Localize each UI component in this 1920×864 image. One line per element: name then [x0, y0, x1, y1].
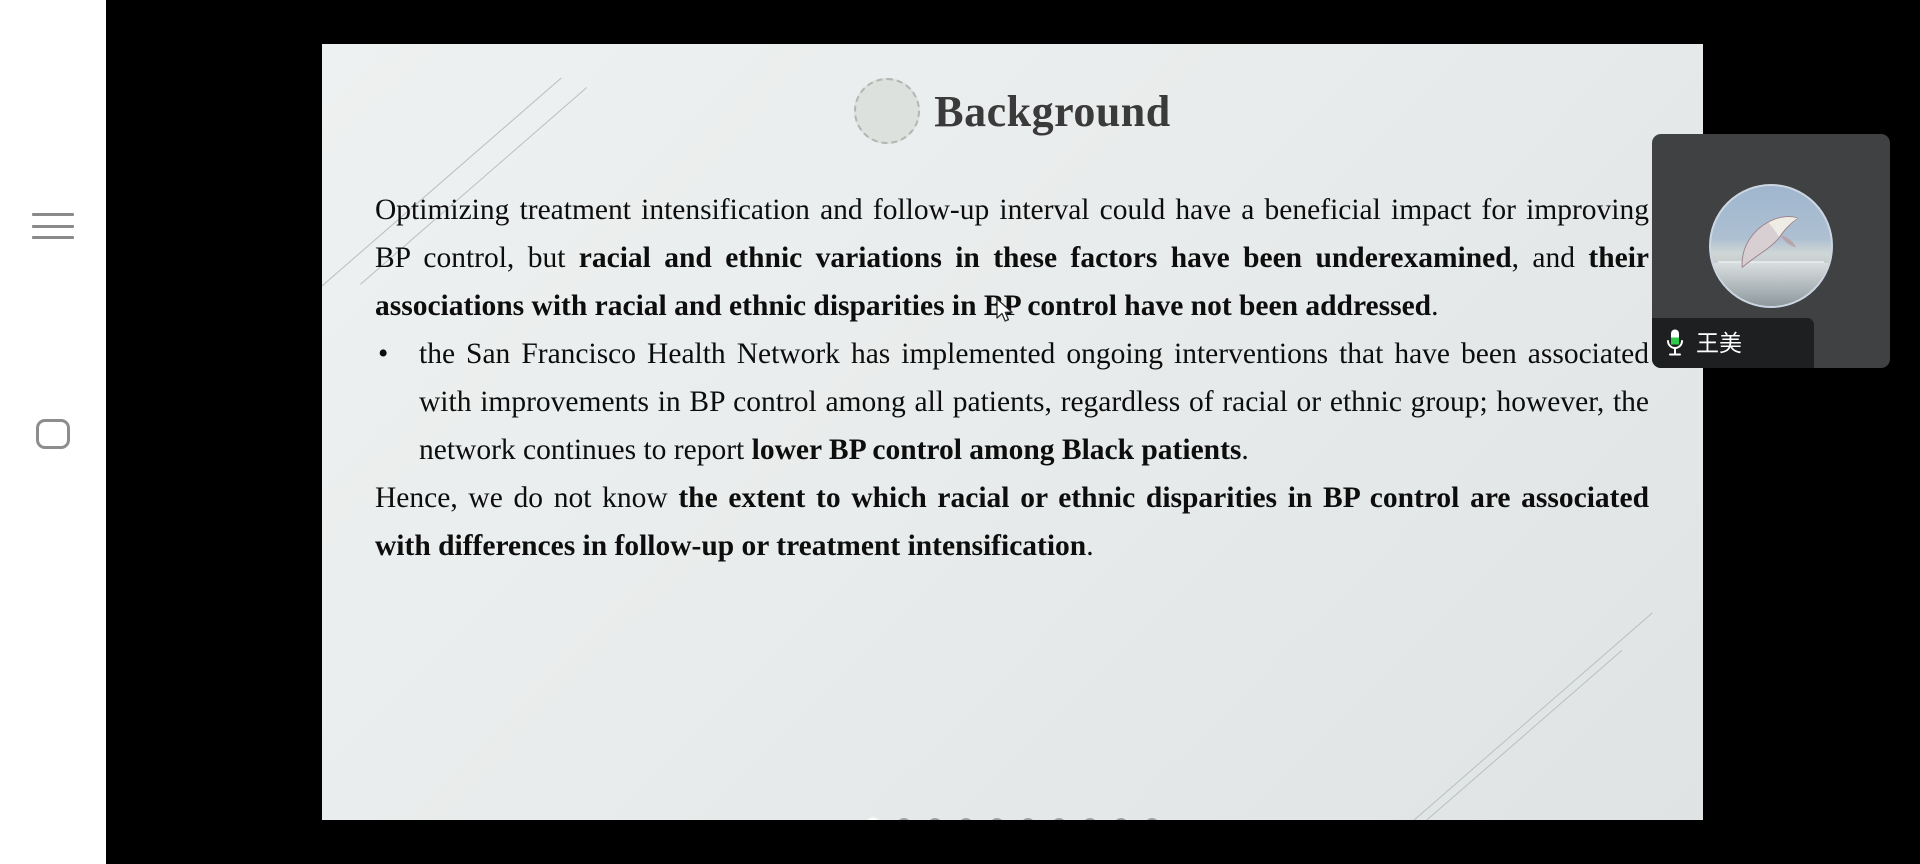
pagination-dot-9[interactable] [1114, 818, 1128, 820]
hamburger-menu-icon [32, 213, 74, 239]
participant-name: 王美 [1696, 332, 1742, 355]
pagination-dot-8[interactable] [1083, 818, 1097, 820]
pagination-dot-10[interactable] [1145, 818, 1159, 820]
nav-menu-button[interactable] [0, 196, 106, 256]
run-text: Hence, we do not know [375, 482, 678, 514]
dolphin-icon [1733, 210, 1810, 272]
run-text-bold: lower BP control among Black patients [752, 434, 1242, 466]
run-text: . [1431, 290, 1438, 322]
run-text-bold: racial and ethnic variations in these fa… [579, 242, 1512, 274]
bullet-marker: • [375, 330, 419, 378]
presentation-slide[interactable]: Background Optimizing treatment intensif… [322, 44, 1703, 820]
paragraph-closing: Hence, we do not know the extent to whic… [375, 474, 1649, 570]
run-text: . [1086, 530, 1093, 562]
run-text: , and [1512, 242, 1589, 274]
pagination-dot-6[interactable] [1021, 818, 1035, 820]
participant-name-bar: 王美 [1652, 318, 1814, 368]
pagination-dot-5[interactable] [990, 818, 1004, 820]
pagination-dot-2[interactable] [897, 818, 911, 820]
slide-title-row: Background [322, 78, 1703, 144]
system-navigation-bar [0, 0, 106, 864]
paragraph-intro: Optimizing treatment intensification and… [375, 186, 1649, 330]
pagination-dot-7[interactable] [1052, 818, 1066, 820]
list-item-text: the San Francisco Health Network has imp… [419, 330, 1649, 474]
screen-root: Background Optimizing treatment intensif… [0, 0, 1920, 864]
pagination-dots[interactable] [322, 818, 1703, 820]
pagination-dot-3[interactable] [928, 818, 942, 820]
pagination-dot-1[interactable] [866, 818, 880, 820]
dashed-circle-decoration [854, 78, 920, 144]
list-item: • the San Francisco Health Network has i… [375, 330, 1649, 474]
microphone-icon[interactable] [1664, 328, 1686, 358]
slide-body: Optimizing treatment intensification and… [375, 186, 1649, 570]
square-recents-icon [36, 419, 70, 449]
run-text: . [1241, 434, 1248, 466]
nav-back-button[interactable] [0, 608, 106, 678]
nav-recents-button[interactable] [0, 404, 106, 464]
pagination-dot-4[interactable] [959, 818, 973, 820]
page-title: Background [934, 86, 1171, 137]
avatar [1709, 184, 1833, 308]
participant-video-tile[interactable]: 王美 [1652, 134, 1890, 368]
